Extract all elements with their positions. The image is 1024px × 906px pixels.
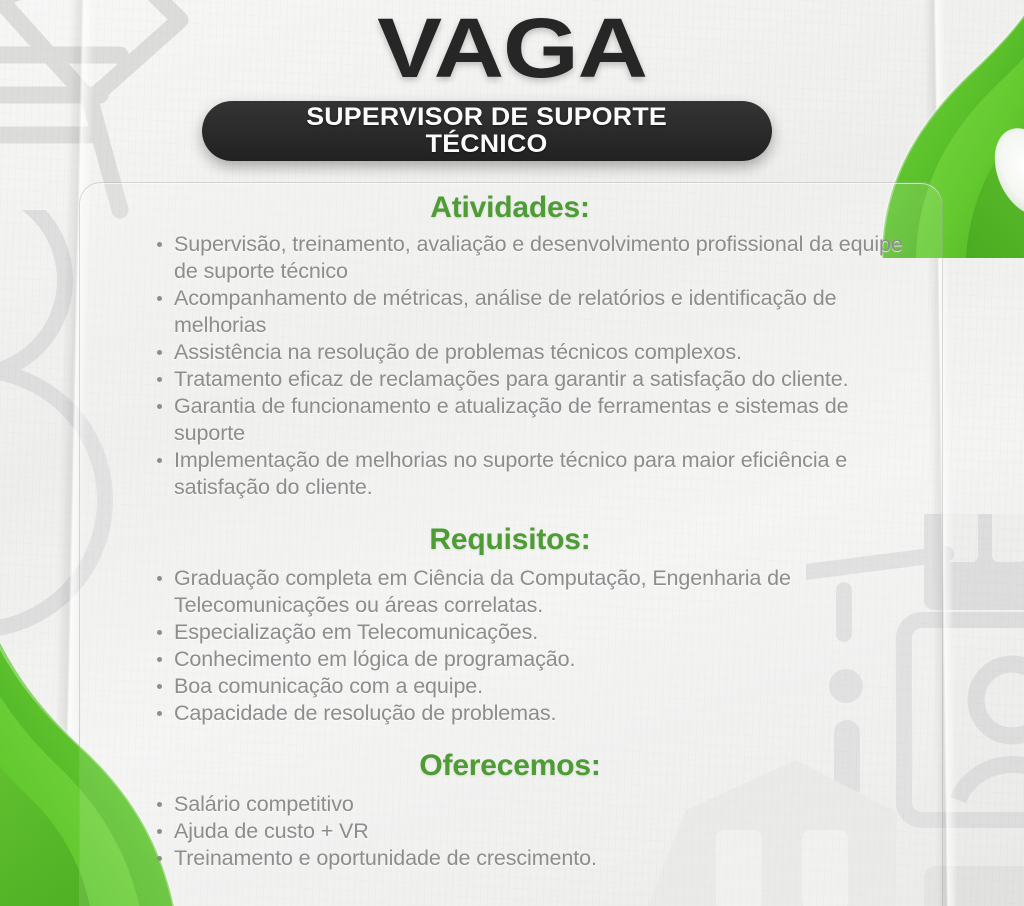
list-oferecemos: Salário competitivo Ajuda de custo + VR …: [79, 783, 941, 872]
list-item: Capacidade de resolução de problemas.: [157, 700, 923, 727]
job-title-badge: SUPERVISOR DE SUPORTE TÉCNICO: [202, 101, 772, 161]
section-heading-requisitos: Requisitos:: [79, 523, 941, 557]
list-item: Acompanhamento de métricas, análise de r…: [157, 285, 923, 339]
list-item: Boa comunicação com a equipe.: [157, 673, 923, 700]
list-atividades: Supervisão, treinamento, avaliação e des…: [79, 225, 941, 501]
job-title-text: SUPERVISOR DE SUPORTE TÉCNICO: [307, 104, 668, 158]
list-item: Supervisão, treinamento, avaliação e des…: [157, 231, 923, 285]
list-item: Ajuda de custo + VR: [157, 818, 923, 845]
job-posting-poster: VAGA SUPERVISOR DE SUPORTE TÉCNICO Ativi…: [0, 0, 1024, 906]
poster-body: Atividades: Supervisão, treinamento, ava…: [79, 182, 941, 906]
list-item: Conhecimento em lógica de programação.: [157, 646, 923, 673]
section-oferecemos: Oferecemos: Salário competitivo Ajuda de…: [79, 727, 941, 872]
list-item: Tratamento eficaz de reclamações para ga…: [157, 366, 923, 393]
section-atividades: Atividades: Supervisão, treinamento, ava…: [79, 182, 941, 501]
list-item: Salário competitivo: [157, 791, 923, 818]
list-item: Graduação completa em Ciência da Computa…: [157, 565, 923, 619]
page-title: VAGA: [0, 2, 1024, 94]
section-requisitos: Requisitos: Graduação completa em Ciênci…: [79, 501, 941, 727]
list-requisitos: Graduação completa em Ciência da Computa…: [79, 557, 941, 727]
list-item: Assistência na resolução de problemas té…: [157, 339, 923, 366]
section-heading-atividades: Atividades:: [79, 191, 941, 225]
list-item: Especialização em Telecomunicações.: [157, 619, 923, 646]
list-item: Treinamento e oportunidade de cresciment…: [157, 845, 923, 872]
list-item: Garantia de funcionamento e atualização …: [157, 393, 923, 447]
list-item: Implementação de melhorias no suporte té…: [157, 447, 923, 501]
section-heading-oferecemos: Oferecemos:: [79, 749, 941, 783]
